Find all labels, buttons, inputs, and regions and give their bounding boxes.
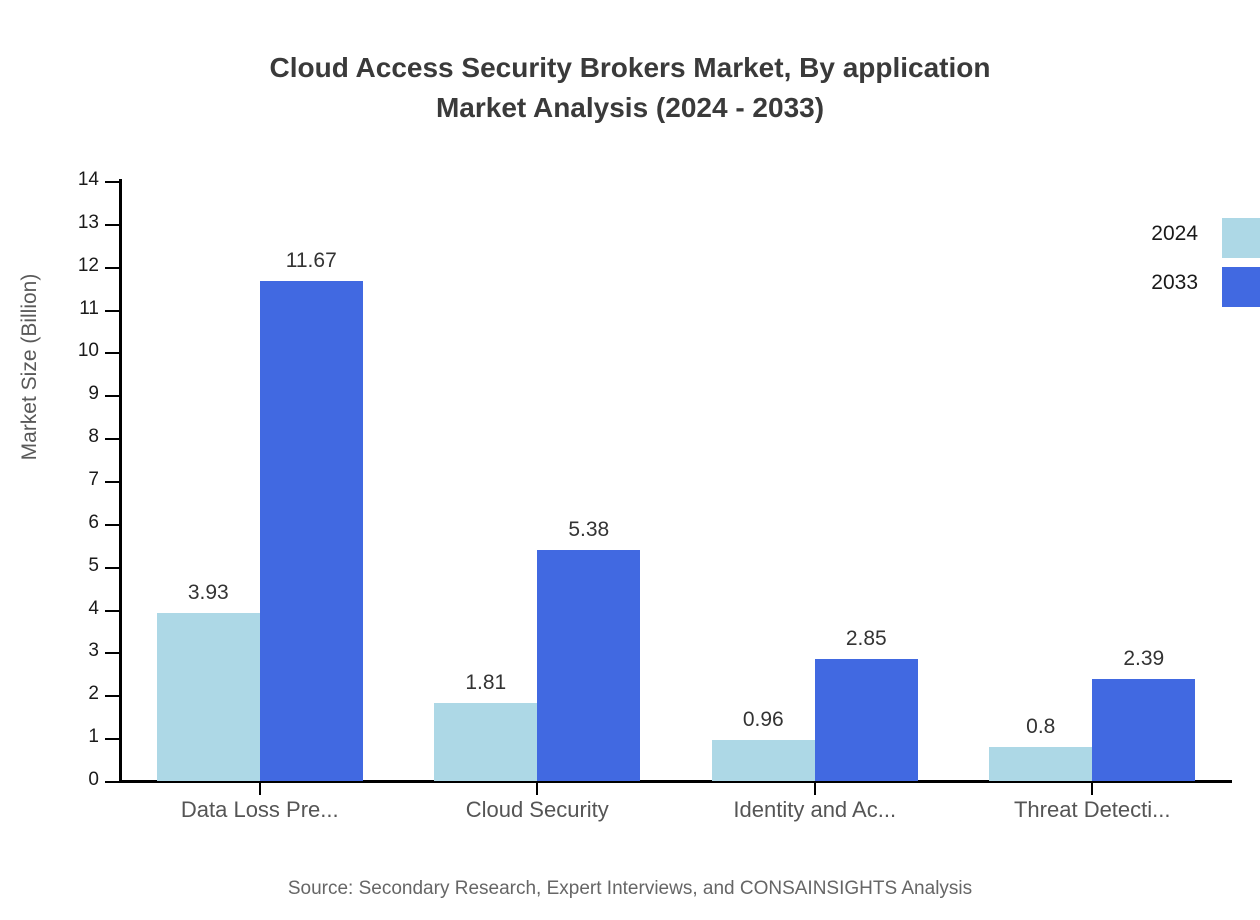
bar-2024-1[interactable] [434, 703, 537, 781]
legend-label: 2033 [1151, 271, 1198, 295]
y-axis-tick-label: 5 [88, 555, 99, 577]
bar-2033-0[interactable] [260, 281, 363, 781]
x-axis-tick-mark [814, 781, 816, 795]
legend-item-2033[interactable]: 2033 [1110, 267, 1260, 307]
y-axis-title: Market Size (Billion) [18, 217, 42, 517]
y-axis-tick-mark [105, 267, 119, 269]
y-axis-tick-label: 4 [88, 598, 99, 620]
y-axis-tick-label: 7 [88, 469, 99, 491]
y-axis-tick-mark [105, 652, 119, 654]
bar-value-label: 3.93 [188, 581, 229, 605]
x-axis-tick-mark [536, 781, 538, 795]
y-axis-tick-label: 11 [79, 298, 99, 320]
y-axis-tick-label: 6 [88, 512, 99, 534]
bar-2033-1[interactable] [537, 550, 640, 781]
bar-2024-3[interactable] [989, 747, 1092, 781]
x-axis-tick-mark [259, 781, 261, 795]
y-axis-tick-mark [105, 395, 119, 397]
x-axis-tick-mark [1091, 781, 1093, 795]
y-axis-tick-mark [105, 524, 119, 526]
y-axis-tick-label: 13 [78, 212, 99, 234]
x-axis-category-label: Cloud Security [466, 797, 609, 823]
source-note: Source: Secondary Research, Expert Inter… [0, 878, 1260, 900]
y-axis-tick-mark [105, 181, 119, 183]
bar-value-label: 2.85 [846, 627, 887, 651]
bar-value-label: 2.39 [1123, 647, 1164, 671]
y-axis-tick-label: 1 [88, 726, 99, 748]
y-axis-tick-label: 9 [88, 383, 99, 405]
y-axis-tick-label: 0 [88, 769, 99, 791]
bar-2033-3[interactable] [1092, 679, 1195, 781]
plot-area: 01234567891011121314Data Loss Pre...3.93… [121, 181, 1231, 781]
y-axis-tick-mark [105, 781, 119, 783]
bar-value-label: 0.96 [743, 708, 784, 732]
y-axis-tick-mark [105, 310, 119, 312]
y-axis-tick-mark [105, 481, 119, 483]
x-axis-category-label: Identity and Ac... [733, 797, 896, 823]
legend-swatch [1222, 267, 1260, 307]
y-axis-tick-mark [105, 695, 119, 697]
bar-value-label: 1.81 [465, 671, 506, 695]
y-axis-tick-mark [105, 352, 119, 354]
chart-title-line-2: Market Analysis (2024 - 2033) [0, 88, 1260, 128]
y-axis-tick-label: 8 [88, 426, 99, 448]
bar-2024-0[interactable] [157, 613, 260, 781]
x-axis-category-label: Threat Detecti... [1014, 797, 1171, 823]
x-axis-category-label: Data Loss Pre... [181, 797, 339, 823]
y-axis-tick-mark [105, 738, 119, 740]
y-axis-tick-mark [105, 224, 119, 226]
bar-value-label: 0.8 [1026, 715, 1055, 739]
legend-swatch [1222, 218, 1260, 258]
y-axis-tick-label: 10 [78, 340, 99, 362]
y-axis-tick-mark [105, 610, 119, 612]
legend-label: 2024 [1151, 222, 1198, 246]
y-axis-tick-label: 2 [88, 683, 99, 705]
bar-2033-2[interactable] [815, 659, 918, 781]
legend-item-2024[interactable]: 2024 [1110, 218, 1260, 258]
y-axis-tick-label: 12 [78, 255, 99, 277]
y-axis-tick-mark [105, 438, 119, 440]
chart-legend: 20242033 [1110, 218, 1260, 314]
chart-title-line-1: Cloud Access Security Brokers Market, By… [0, 48, 1260, 88]
y-axis-tick-label: 3 [88, 640, 99, 662]
chart-title: Cloud Access Security Brokers Market, By… [0, 48, 1260, 128]
bar-value-label: 5.38 [568, 518, 609, 542]
bar-2024-2[interactable] [712, 740, 815, 781]
bar-chart: Cloud Access Security Brokers Market, By… [0, 0, 1260, 920]
y-axis-tick-label: 14 [78, 169, 99, 191]
y-axis-tick-mark [105, 567, 119, 569]
bar-value-label: 11.67 [286, 249, 337, 273]
